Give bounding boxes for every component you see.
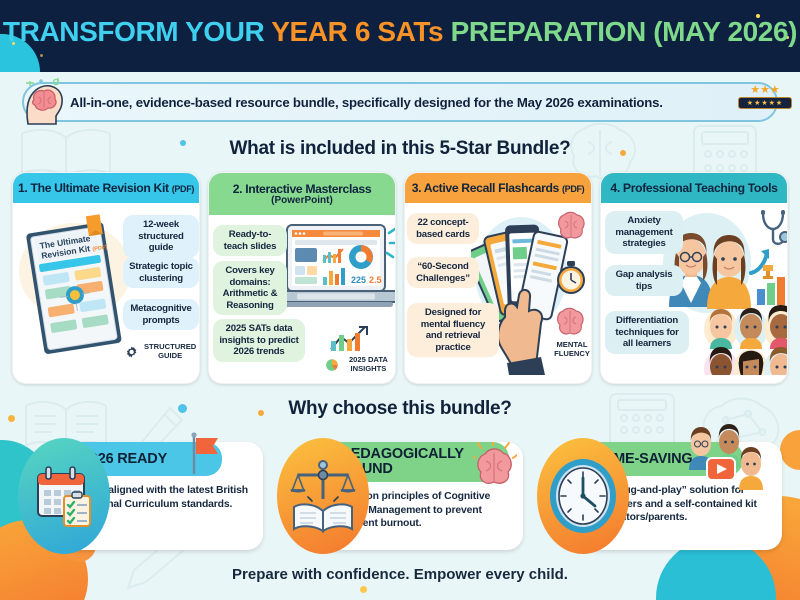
clock-icon (546, 456, 620, 536)
infographic-poster: TRANSFORM YOUR YEAR 6 SATs PREPARATION (… (0, 0, 800, 600)
card-3-title: 3. Active Recall Flashcards (PDF) (412, 181, 585, 195)
card-1-header: 1. The Ultimate Revision Kit (PDF) (13, 173, 199, 203)
page-title: TRANSFORM YOUR YEAR 6 SATs PREPARATION (… (0, 16, 800, 48)
gear-icon (125, 343, 138, 361)
card-4-bubble-0: Anxiety management strategies (605, 211, 683, 254)
decor-dot-yellow (360, 586, 367, 593)
title-segment-transform: TRANSFORM YOUR (3, 16, 271, 47)
brain-icon-3 (473, 442, 517, 488)
card-4-header: 4. Professional Teaching Tools (601, 173, 787, 203)
card-1-title-text: The Ultimate Revision Kit (31, 181, 169, 195)
card-2-badge: 2025 DATA INSIGHTS (325, 355, 395, 375)
card-3-bubble-1: “60-Second Challenges” (407, 257, 479, 288)
card-1-bubble-2: Metacognitive prompts (123, 299, 199, 330)
card-1-badge-label: STRUCTURED GUIDE (141, 343, 199, 360)
card-2-body: 225 2.5 Ready-to-teach slides Covers key… (209, 215, 395, 384)
header-band: TRANSFORM YOUR YEAR 6 SATs PREPARATION (… (0, 0, 800, 72)
rating-pill-stars: ★★★★★ (738, 97, 792, 109)
card-3-bubble-0: 22 concept-based cards (407, 213, 479, 244)
card-2-bubble-1: Covers key domains: Arithmetic & Reasoni… (213, 261, 287, 315)
card-4-bubble-2: Differentiation techniques for all learn… (605, 311, 689, 354)
card-3-header: 3. Active Recall Flashcards (PDF) (405, 173, 591, 203)
card-3-title-suffix: (PDF) (562, 184, 584, 194)
card-3-number: 3. (412, 181, 421, 195)
card-1-title: 1. The Ultimate Revision Kit (PDF) (18, 181, 194, 195)
card-1-number: 1. (18, 181, 27, 195)
card-2-subtitle: (PowerPoint) (271, 195, 333, 206)
benefit-card-time-saving[interactable]: TIME-SAVING A “plug-and-play” solution f… (537, 438, 782, 554)
closing-tagline: Prepare with confidence. Empower every c… (0, 566, 800, 583)
benefit-2-label-line1: PEDAGOGICALLY (341, 447, 464, 462)
card-3-badge: MENTAL FLUENCY (549, 341, 592, 358)
svg-text:2.5: 2.5 (369, 275, 382, 285)
title-segment-preparation: PREPARATION (MAY 2026) (451, 16, 797, 47)
card-1-bubble-0: 12-week structured guide (123, 215, 199, 258)
feature-card-teaching-tools[interactable]: 4. Professional Teaching Tools (600, 172, 788, 384)
revision-kit-book-icon: The Ultimate Revision Kit (PDF) (19, 211, 131, 361)
card-2-number: 2. (233, 182, 242, 196)
rating-top-stars: ★★★ (738, 85, 792, 96)
feature-card-masterclass[interactable]: 2. Interactive Masterclass (PowerPoint) (208, 172, 396, 384)
benefit-card-2026-ready[interactable]: 2026 READY Fully aligned with the latest… (18, 438, 263, 554)
card-4-number: 4. (610, 181, 619, 195)
card-2-title: 2. Interactive Masterclass (233, 182, 372, 196)
flag-icon (188, 432, 222, 474)
benefits-row: 2026 READY Fully aligned with the latest… (18, 438, 782, 554)
card-2-bubble-2: 2025 SATs data insights to predict 2026 … (213, 319, 305, 362)
card-4-bubble-1: Gap analysis tips (605, 265, 683, 296)
card-1-badge: STRUCTURED GUIDE (125, 343, 199, 361)
header-spark-5 (40, 54, 43, 57)
card-4-title-text: Professional Teaching Tools (623, 181, 778, 195)
title-segment-year6sats: YEAR 6 SATs (271, 16, 450, 47)
head-brain-icon (22, 78, 66, 126)
card-2-title-text: Interactive Masterclass (245, 182, 371, 196)
subtitle-text: All-in-one, evidence-based resource bund… (70, 95, 663, 110)
card-3-title-text: Active Recall Flashcards (424, 181, 559, 195)
feature-cards-row: 1. The Ultimate Revision Kit (PDF) The U… (12, 172, 788, 384)
card-1-title-suffix: (PDF) (172, 184, 194, 194)
section-heading-included: What is included in this 5-Star Bundle? (0, 138, 800, 160)
svg-text:225: 225 (351, 275, 366, 285)
scales-book-icon (290, 459, 356, 533)
laptop-dashboard-icon: 225 2.5 (271, 221, 396, 331)
card-2-badge-label: 2025 DATA INSIGHTS (342, 356, 395, 373)
section-heading-why: Why choose this bundle? (0, 398, 800, 420)
stopwatch-icon (557, 261, 585, 295)
benefit-card-pedagogically-sound[interactable]: PEDAGOGICALLY SOUND Built on principles … (277, 438, 522, 554)
benefit-1-icon-circle (18, 438, 110, 554)
brain-icon-2 (553, 307, 587, 337)
feature-card-revision-kit[interactable]: 1. The Ultimate Revision Kit (PDF) The U… (12, 172, 200, 384)
rating-badge: ★★★ ★★★★★ (738, 85, 792, 119)
card-2-bubble-0: Ready-to-teach slides (213, 225, 287, 256)
card-1-body: The Ultimate Revision Kit (PDF) (13, 203, 199, 384)
card-4-body: Anxiety management strategies Gap analys… (601, 203, 787, 384)
card-2-header: 2. Interactive Masterclass (PowerPoint) (209, 173, 395, 215)
feature-card-flashcards[interactable]: 3. Active Recall Flashcards (PDF) (404, 172, 592, 384)
benefit-2-icon-circle (277, 438, 369, 554)
growth-bar-chart-icon (327, 323, 375, 353)
pie-chart-icon (325, 355, 339, 375)
benefit-3-icon-circle (537, 438, 629, 554)
card-3-body: 22 concept-based cards “60-Second Challe… (405, 203, 591, 384)
team-play-button-icon (685, 422, 771, 492)
card-3-badge-label: MENTAL FLUENCY (554, 340, 590, 358)
brain-icon (555, 211, 587, 241)
subtitle-banner: All-in-one, evidence-based resource bund… (22, 82, 778, 122)
card-1-bubble-1: Strategic topic clustering (123, 257, 199, 288)
card-3-bubble-2: Designed for mental fluency and retrieva… (407, 303, 499, 357)
calendar-checklist-icon (32, 464, 96, 528)
decor-dot-right-orange (780, 430, 800, 470)
card-4-title: 4. Professional Teaching Tools (610, 181, 777, 195)
